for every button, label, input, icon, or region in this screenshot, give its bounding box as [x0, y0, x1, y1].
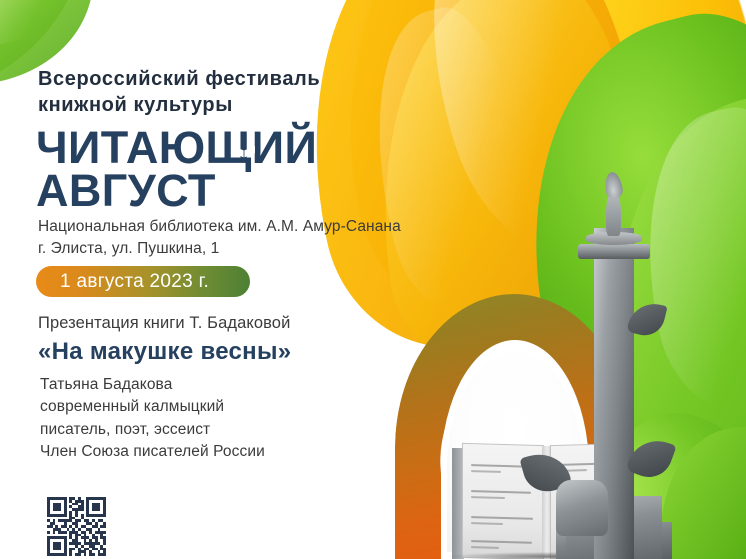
date-badge-label: 1 августа 2023 г.: [60, 271, 209, 293]
poster-content: Всероссийский фестиваль книжной культуры…: [0, 0, 746, 559]
author-name: Татьяна Бадакова: [40, 374, 440, 396]
author-bio-line-3: писатель, поэт, эссеист: [40, 419, 440, 441]
presentation-intro: Презентация книги Т. Бадаковой: [38, 314, 290, 333]
festival-kicker: Всероссийский фестиваль книжной культуры: [38, 66, 458, 119]
title-line-1: ЧИТАЮЩИЙ: [36, 126, 466, 169]
qr-code-modules: [47, 497, 106, 556]
poster-canvas: Всероссийский фестиваль книжной культуры…: [0, 0, 746, 559]
date-badge: 1 августа 2023 г.: [36, 266, 250, 297]
title-line-2: АВГУСТ: [36, 169, 466, 212]
venue-line-1: Национальная библиотека им. А.М. Амур-Са…: [38, 216, 508, 238]
page-title: ЧИТАЮЩИЙ АВГУСТ: [36, 126, 466, 212]
author-bio-line-2: современный калмыцкий: [40, 396, 440, 418]
venue-line-2: г. Элиста, ул. Пушкина, 1: [38, 238, 508, 260]
venue-block: Национальная библиотека им. А.М. Амур-Са…: [38, 216, 508, 260]
author-bio-line-4: Член Союза писателей России: [40, 441, 440, 463]
qr-code[interactable]: [44, 494, 109, 559]
kicker-line-1: Всероссийский фестиваль: [38, 66, 458, 92]
author-bio: Татьяна Бадакова современный калмыцкий п…: [40, 374, 440, 463]
presented-book-title: «На макушке весны»: [38, 338, 291, 366]
kicker-line-2: книжной культуры: [38, 92, 458, 118]
